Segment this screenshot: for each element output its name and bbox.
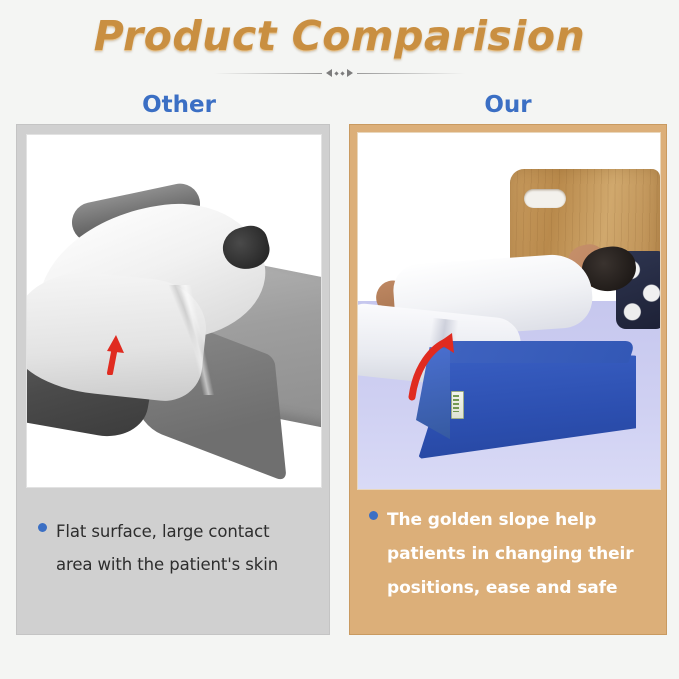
caption-our-text: The golden slope help patients in changi… <box>387 503 647 605</box>
caption-our: The golden slope help patients in changi… <box>357 491 659 627</box>
sheet-crease-shape <box>137 285 257 395</box>
red-arrow-icon <box>99 331 125 375</box>
blue-wedge-top-shape <box>428 341 635 363</box>
headboard-handle-cutout <box>524 189 566 208</box>
bullet-point-icon <box>38 523 47 532</box>
product-photo-our <box>357 132 661 490</box>
column-heading-our: Our <box>349 92 667 118</box>
bullet-point-icon <box>369 511 378 520</box>
divider-line-right <box>357 73 465 74</box>
column-heading-other: Other <box>16 92 342 118</box>
page-title-container: Product Comparision <box>0 14 679 58</box>
divider-line-left <box>214 73 322 74</box>
red-curved-arrow-icon <box>402 331 456 405</box>
divider-dot-icon <box>334 71 338 75</box>
comparison-panel-other: Flat surface, large contact area with th… <box>16 124 330 635</box>
page-title: Product Comparision <box>0 14 679 58</box>
divider-arrow-left-icon <box>326 69 332 77</box>
divider-arrow-right-icon <box>347 69 353 77</box>
comparison-panel-our: The golden slope help patients in changi… <box>349 124 667 635</box>
divider-ornament-icon <box>326 69 353 77</box>
caption-other: Flat surface, large contact area with th… <box>26 497 320 623</box>
caption-other-text: Flat surface, large contact area with th… <box>56 515 308 581</box>
divider-dot-icon <box>340 71 344 75</box>
ornamental-divider <box>0 66 679 80</box>
product-photo-other <box>26 134 322 488</box>
